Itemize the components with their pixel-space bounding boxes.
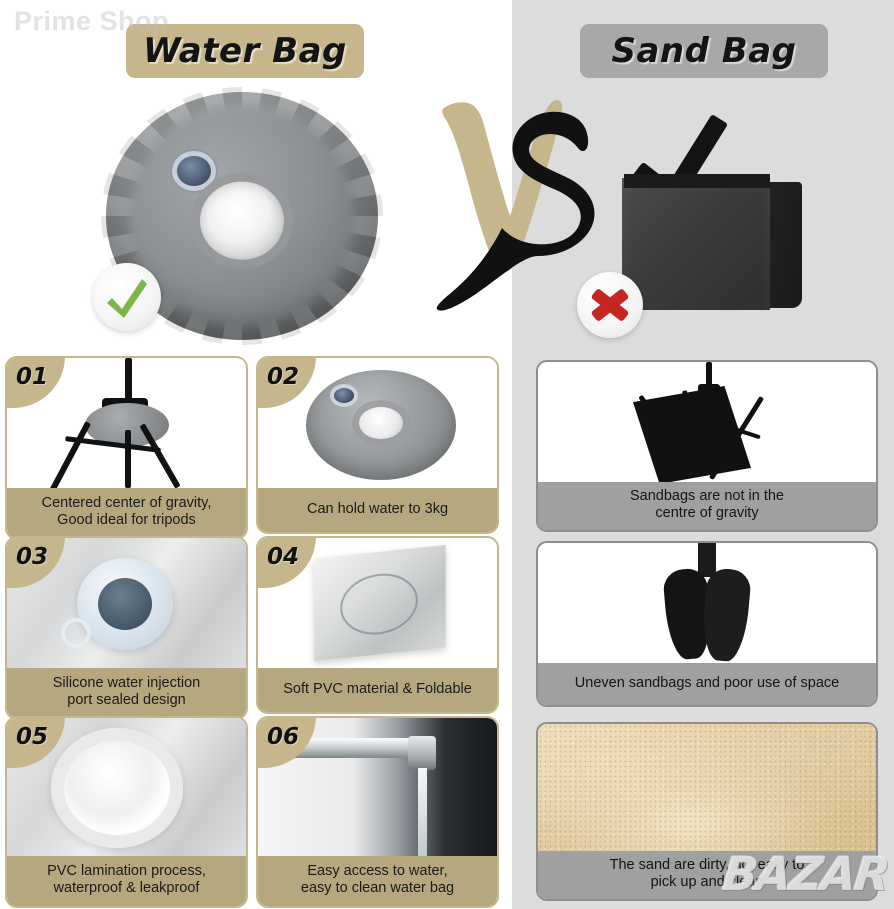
cross-badge [577,272,643,338]
water-bag-header-label: Water Bag [143,31,347,71]
sand-texture [538,724,876,851]
drawback-card-1[interactable]: Sandbags are not in the centre of gravit… [536,360,878,532]
feature-card-01[interactable]: 01 Centered center of gravity, Good idea… [5,356,248,540]
feature-card-03-caption: Silicone water injection port sealed des… [7,668,246,718]
feature-number: 01 [16,364,48,390]
water-bag-header: Water Bag [126,24,364,78]
versus-mark [432,96,602,321]
water-valve-icon [177,156,211,186]
feature-card-02-image: 02 [258,358,497,488]
feature-card-06[interactable]: 06 Easy access to water, easy to clean w… [256,716,499,908]
valve-pull-ring [61,618,91,648]
drawback-card-2-caption: Uneven sandbags and poor use of space [538,663,876,705]
silicone-valve-ring [77,558,173,650]
faucet-head [408,736,436,770]
drawback-card-3-caption: The sand are dirty, not easy to pick up … [538,851,876,899]
water-stream [418,768,427,856]
drawback-card-1-caption: Sandbags are not in the centre of gravit… [538,482,876,530]
feature-card-03[interactable]: 03 Silicone water injection port sealed … [5,536,248,720]
check-icon [102,272,152,322]
water-bag-center-hole [200,182,284,260]
feature-card-04-number-badge: 04 [258,538,316,588]
feature-card-05-image: 05 [7,718,246,856]
sandbag-body [622,178,770,310]
feature-number: 05 [16,724,48,750]
drawback-card-2[interactable]: Uneven sandbags and poor use of space [536,541,878,707]
feature-number: 02 [267,364,299,390]
feature-card-02-caption: Can hold water to 3kg [258,488,497,532]
drawback-card-3[interactable]: The sand are dirty, not easy to pick up … [536,722,878,901]
feature-card-05-caption: PVC lamination process, waterproof & lea… [7,856,246,906]
sandbag-hanger-strap [698,543,716,577]
check-badge [93,263,161,331]
feature-number: 03 [16,544,48,570]
feature-card-05[interactable]: 05 PVC lamination process, waterproof & … [5,716,248,908]
sand-bag-hero-image [616,110,816,325]
feature-card-04-image: 04 [258,538,497,668]
drawback-card-2-image [538,543,876,663]
feature-number: 04 [267,544,299,570]
feature-card-06-image: 06 [258,718,497,856]
feature-card-01-image: 01 [7,358,246,488]
feature-card-04[interactable]: 04 Soft PVC material & Foldable [256,536,499,714]
drawback-card-3-image [538,724,876,851]
sand-bag-header-label: Sand Bag [611,31,796,71]
folded-pvc-sheet [314,545,445,661]
feature-card-06-caption: Easy access to water, easy to clean wate… [258,856,497,906]
mini-water-bag [306,370,456,480]
sand-bag-header: Sand Bag [580,24,828,78]
feature-number: 06 [267,724,299,750]
drawback-card-1-image [538,362,876,482]
infographic-page: Prime Shop BAZAR Water Bag Sand Bag [0,0,894,909]
hanging-sandbag [633,386,751,482]
feature-card-01-caption: Centered center of gravity, Good ideal f… [7,488,246,538]
sandbag-top-edge [624,174,770,188]
feature-card-01-number-badge: 01 [7,358,65,408]
pvc-lamination-ring [51,728,183,848]
feature-card-02-number-badge: 02 [258,358,316,408]
sandbag-lobe-right [700,567,752,662]
feature-card-02[interactable]: 02 Can hold water to 3kg [256,356,499,534]
feature-card-03-image: 03 [7,538,246,668]
feature-card-04-caption: Soft PVC material & Foldable [258,668,497,712]
cross-icon [587,282,633,328]
